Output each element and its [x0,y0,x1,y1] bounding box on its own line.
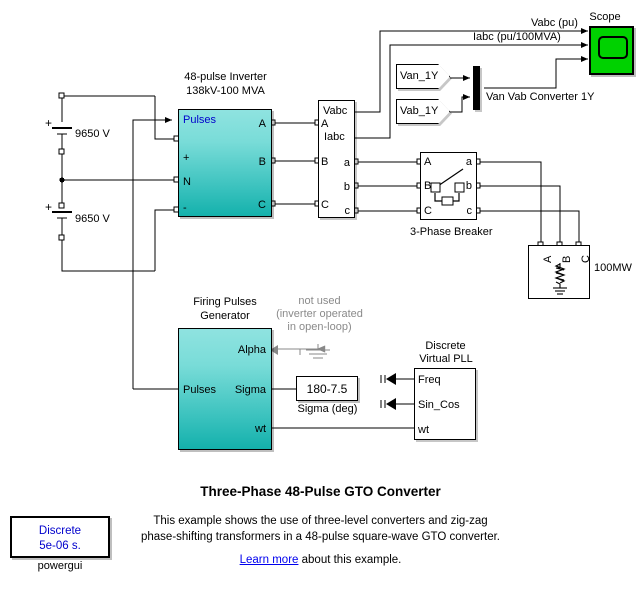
firing-port-sigma: Sigma [235,384,266,396]
from-block-van-1y-label: Van_1Y [400,71,438,82]
sigma-constant-label: Sigma (deg) [290,403,365,416]
pll-port-freq: Freq [418,374,441,386]
measurement-port-c-in: C [321,199,329,211]
firing-title-line2: Generator [178,310,272,323]
measurement-port-c-out: c [345,205,351,217]
firing-port-alpha: Alpha [238,344,266,356]
measurement-port-iabc: Iabc [324,131,345,143]
from-block-vab-1y-label: Vab_1Y [400,106,438,117]
note-line2: (inverter operated [268,308,371,321]
dc-source-1-polarity: + [45,117,52,130]
pll-port-wt: wt [418,424,429,436]
simulink-model-canvas: + 9650 V + 9650 V 48-pulse Inverter 138k… [0,0,641,594]
measurement-block[interactable]: Vabc Iabc A B C a b c [318,100,355,218]
pll-title-line2: Virtual PLL [406,353,486,366]
load-terminal-b: B [561,256,573,263]
load-block[interactable]: A B C [528,245,590,299]
signal-label-iabc-pu: Iabc (pu/100MVA) [473,31,561,44]
caption-body-line2: phase-shifting transformers in a 48-puls… [0,529,641,545]
signal-label-vabc-pu: Vabc (pu) [531,17,578,30]
inverter-port-c: C [258,199,266,211]
dc-source-2-polarity: + [45,201,52,214]
measurement-port-a-in: A [321,118,328,130]
breaker-block[interactable]: A B C a b c [420,152,477,220]
sigma-constant-block[interactable]: 180-7.5 [296,376,358,401]
firing-title-line1: Firing Pulses [178,296,272,309]
load-terminal-a: A [542,256,554,263]
firing-port-wt: wt [255,423,266,435]
caption-link-row: Learn more about this example. [0,554,641,566]
inverter-title-line1: 48-pulse Inverter [178,71,273,84]
load-terminal-c: C [580,255,592,263]
inverter-port-b: B [259,156,266,168]
scope-block[interactable] [589,26,634,75]
breaker-switch-icon [421,153,478,221]
pll-port-sin-cos: Sin_Cos [418,399,460,411]
inverter-port-plus: + [183,152,189,164]
breaker-label: 3-Phase Breaker [410,226,493,239]
inverter-title-line2: 138kV-100 MVA [178,85,273,98]
inverter-port-a: A [259,118,266,130]
learn-more-link[interactable]: Learn more [240,554,299,566]
firing-port-pulses: Pulses [183,384,216,396]
scope-screen-icon [598,36,628,59]
page-title: Three-Phase 48-Pulse GTO Converter [0,484,641,499]
inverter-block[interactable]: Pulses + N - A B C [178,109,272,217]
inverter-port-pulses: Pulses [183,114,216,126]
pll-block[interactable]: Freq Sin_Cos wt [414,368,476,440]
inverter-port-n: N [183,176,191,188]
pll-title-line1: Discrete [414,340,477,353]
dc-source-2-value: 9650 V [75,213,110,226]
load-label: 100MW [594,262,632,275]
measurement-port-b-out: b [344,181,350,193]
caption-link-suffix: about this example. [298,554,401,566]
scope-label: Scope [575,11,635,24]
measurement-port-b-in: B [321,156,328,168]
note-line1: not used [272,295,367,308]
measurement-port-a-out: a [344,157,350,169]
measurement-port-vabc: Vabc [323,105,347,117]
mux-label: Van Vab Converter 1Y [486,91,594,104]
caption-body-line1: This example shows the use of three-leve… [0,513,641,529]
mux-block[interactable] [473,66,480,110]
firing-pulses-generator-block[interactable]: Pulses Alpha Sigma wt [178,328,272,450]
note-line3: in open-loop) [272,321,367,334]
inverter-port-minus: - [183,202,187,214]
sigma-constant-value: 180-7.5 [307,382,348,396]
dc-source-1-value: 9650 V [75,128,110,141]
